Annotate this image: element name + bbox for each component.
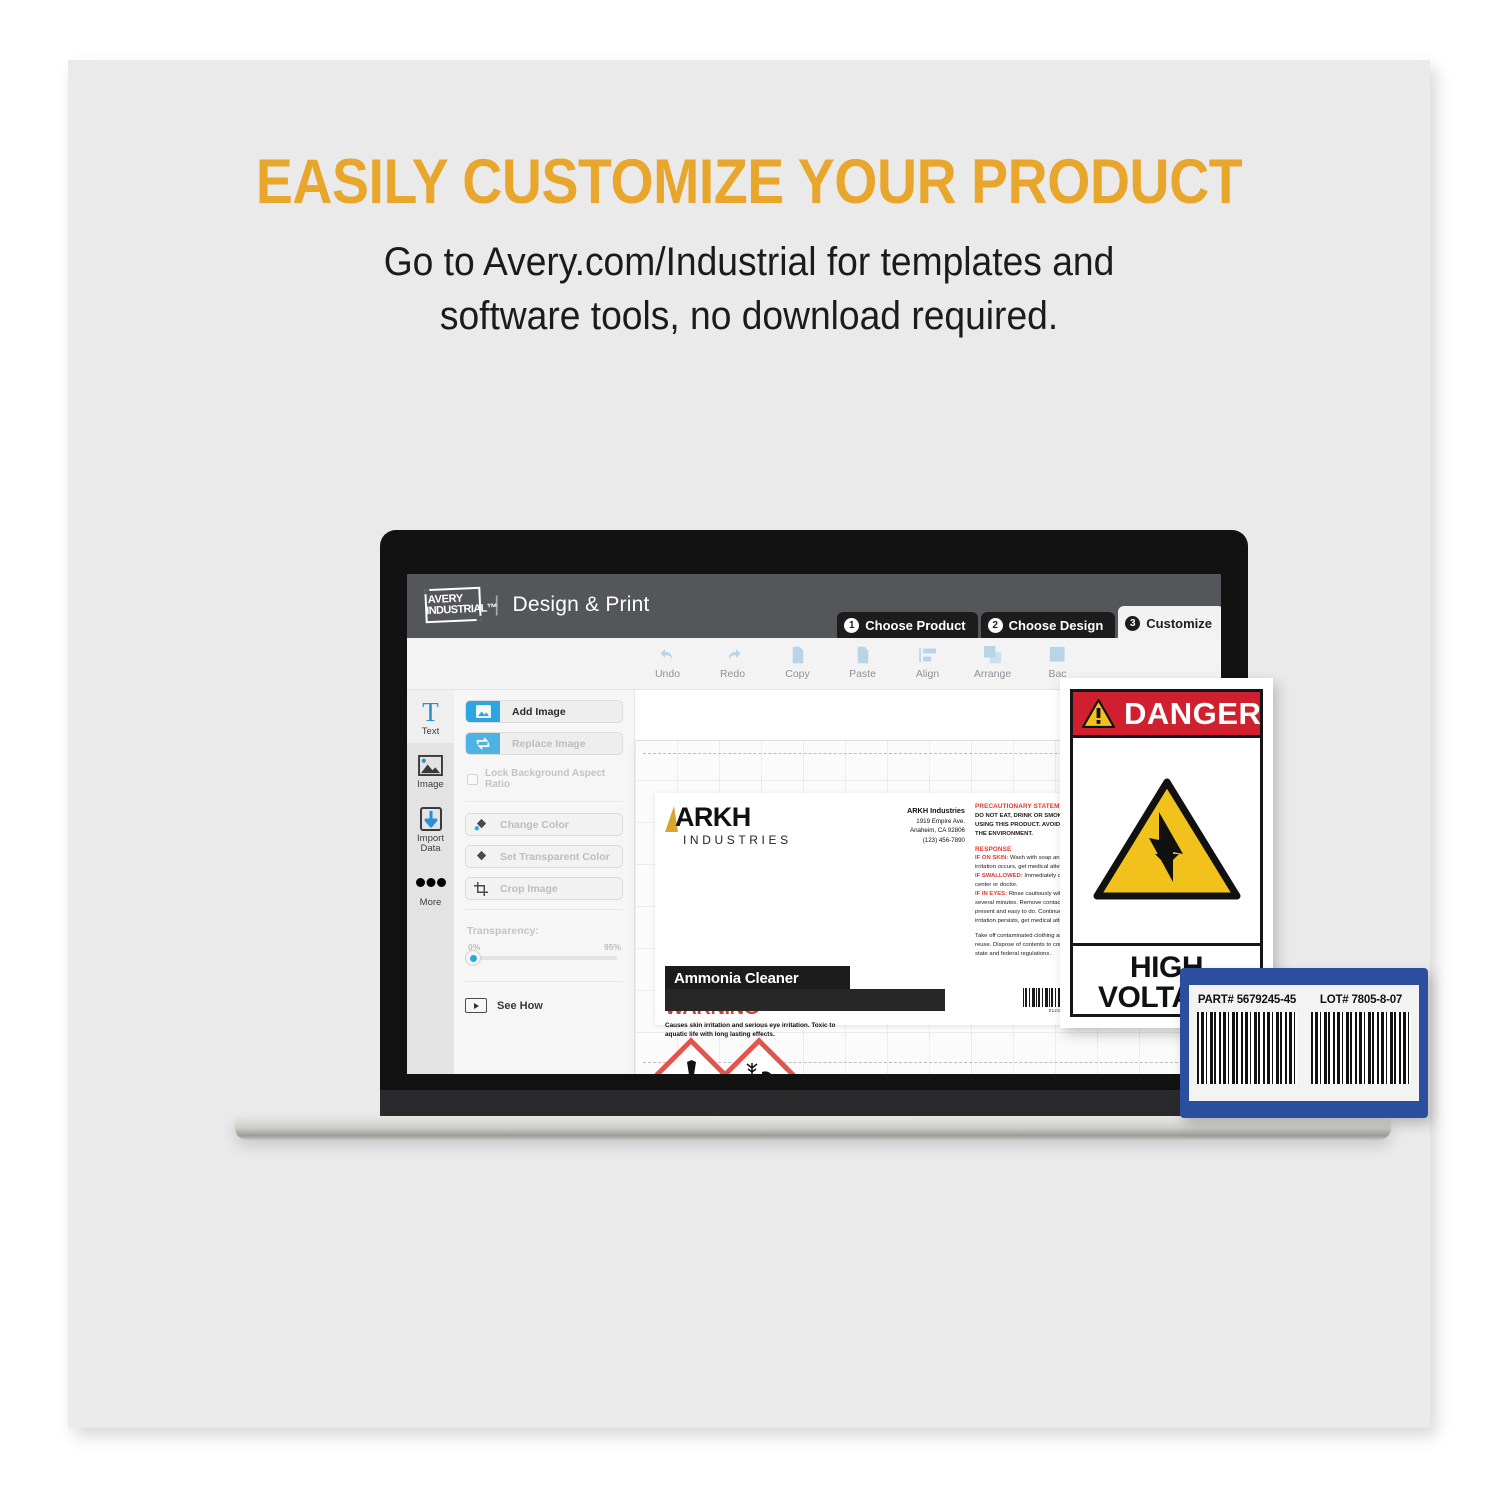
label-artwork[interactable]: ARKH INDUSTRIES ARKH Industries 1919 Emp…	[655, 793, 1115, 1025]
ghs-pictograms	[665, 1048, 1105, 1074]
background-icon	[1025, 642, 1090, 668]
properties-panel: Add Image Replace Image Lock Background …	[454, 690, 635, 1074]
lot-barcode-icon	[1311, 1012, 1411, 1084]
address-name: ARKH Industries	[907, 806, 965, 815]
crop-icon	[466, 882, 496, 896]
barcode-tag: PART# 5679245-45 LOT# 7805-8-07	[1180, 968, 1428, 1118]
rail-label: More	[407, 898, 454, 908]
response-lead: IF SWALLOWED:	[975, 873, 1023, 879]
label-header-row: ARKH INDUSTRIES ARKH Industries 1919 Emp…	[665, 802, 1105, 959]
exclamation-mark-pictogram	[665, 1048, 717, 1074]
slider-max-label: 95%	[604, 942, 621, 952]
import-data-icon	[407, 804, 454, 834]
transparency-label: Transparency:	[465, 921, 623, 945]
promo-card: EASILY CUSTOMIZE YOUR PRODUCT Go to Aver…	[68, 60, 1430, 1428]
rail-label-line2: Data	[407, 844, 454, 854]
add-image-button[interactable]: Add Image	[465, 700, 623, 723]
toolbar-label: Redo	[700, 668, 765, 680]
tab-choose-product[interactable]: 1 Choose Product	[837, 612, 977, 638]
see-how-button[interactable]: See How	[465, 998, 623, 1013]
app-header: AVERY INDUSTRIAL™ | Design & Print 1 Cho…	[407, 574, 1221, 638]
danger-signal-word: DANGER	[1124, 696, 1261, 732]
set-transparent-color-label: Set Transparent Color	[496, 851, 610, 863]
toolbar-label: Arrange	[960, 668, 1025, 680]
avery-logo-icon: AVERY INDUSTRIAL™	[425, 588, 481, 622]
toolbar-label: Copy	[765, 668, 830, 680]
address-phone: (123) 456-7890	[923, 837, 965, 844]
step-number: 2	[988, 618, 1003, 633]
slider-knob[interactable]	[465, 950, 481, 966]
toolbar-paste[interactable]: Paste	[830, 642, 895, 680]
app-title: Design & Print	[512, 593, 649, 617]
change-color-label: Change Color	[496, 819, 569, 831]
danger-header-bar: DANGER	[1073, 692, 1260, 738]
toolbar-align[interactable]: Align	[895, 642, 960, 680]
rail-item-text[interactable]: T Text	[407, 690, 454, 743]
address-city: Anaheim, CA 92806	[910, 827, 965, 834]
rail-label: Text	[407, 727, 454, 737]
rail-item-more[interactable]: More	[407, 861, 454, 914]
tab-choose-design[interactable]: 2 Choose Design	[981, 612, 1116, 638]
toolbar-label: Paste	[830, 668, 895, 680]
set-transparent-color-button[interactable]: Set Transparent Color	[465, 845, 623, 868]
laptop-hinge	[380, 1090, 1248, 1118]
transparent-color-icon	[466, 850, 496, 863]
divider	[465, 909, 623, 910]
lock-aspect-label: Lock Background Aspect Ratio	[485, 768, 623, 790]
label-address-block: ARKH Industries 1919 Empire Ave. Anaheim…	[850, 802, 965, 959]
arrange-icon	[960, 642, 1025, 668]
lock-aspect-ratio-row[interactable]: Lock Background Aspect Ratio	[465, 764, 623, 799]
rail-item-image[interactable]: Image	[407, 743, 454, 796]
replace-image-icon	[466, 733, 500, 754]
undo-icon	[635, 642, 700, 668]
laptop-base	[235, 1116, 1391, 1140]
subtitle-line-1: Go to Avery.com/Industrial for templates…	[331, 235, 1168, 289]
part-barcode-icon	[1197, 1012, 1297, 1084]
step-number: 1	[844, 618, 859, 633]
paste-icon	[830, 642, 895, 668]
label-brand-block: ARKH INDUSTRIES	[665, 802, 850, 959]
page-title: EASILY CUSTOMIZE YOUR PRODUCT	[150, 146, 1349, 218]
page-subtitle: Go to Avery.com/Industrial for templates…	[331, 235, 1168, 343]
more-dots-icon	[407, 868, 454, 898]
see-how-label: See How	[497, 1000, 543, 1012]
crop-image-button[interactable]: Crop Image	[465, 877, 623, 900]
high-voltage-symbol	[1073, 738, 1260, 946]
toolbar-copy[interactable]: Copy	[765, 642, 830, 680]
redo-icon	[700, 642, 765, 668]
toolbar-redo[interactable]: Redo	[700, 642, 765, 680]
lot-column: LOT# 7805-8-07	[1311, 994, 1411, 1093]
text-icon: T	[407, 697, 454, 727]
part-label: PART# 5679245-45	[1197, 994, 1297, 1006]
play-icon	[465, 998, 487, 1013]
transparency-slider[interactable]: 0% 95%	[465, 945, 623, 967]
toolbar-background[interactable]: Bac	[1025, 642, 1090, 680]
brand-line-2: INDUSTRIAL™	[425, 604, 481, 618]
step-number: 3	[1125, 616, 1140, 631]
tab-label: Choose Design	[1009, 618, 1104, 633]
app-logo: AVERY INDUSTRIAL™ | Design & Print	[425, 588, 650, 622]
rail-label: Image	[407, 780, 454, 790]
label-black-bar	[665, 989, 945, 1011]
tab-label: Choose Product	[865, 618, 965, 633]
arkh-company-name: ARKH	[675, 805, 751, 831]
toolbar-label: Undo	[635, 668, 700, 680]
crop-image-label: Crop Image	[496, 883, 558, 895]
lot-label: LOT# 7805-8-07	[1311, 994, 1411, 1006]
rail-item-import-data[interactable]: Import Data	[407, 797, 454, 861]
image-icon	[407, 750, 454, 780]
part-column: PART# 5679245-45	[1197, 994, 1297, 1093]
tool-rail: T Text Image	[407, 690, 454, 1074]
toolbar-arrange[interactable]: Arrange	[960, 642, 1025, 680]
response-lead: IF ON SKIN:	[975, 855, 1008, 861]
divider	[465, 981, 623, 982]
address-street: 1919 Empire Ave.	[916, 818, 965, 825]
product-name-bar: Ammonia Cleaner	[665, 966, 850, 991]
color-swatch-icon	[466, 818, 496, 831]
change-color-button[interactable]: Change Color	[465, 813, 623, 836]
barcode-tag-inner: PART# 5679245-45 LOT# 7805-8-07	[1189, 985, 1419, 1101]
replace-image-label: Replace Image	[500, 738, 586, 750]
tab-customize[interactable]: 3 Customize	[1118, 606, 1221, 638]
align-icon	[895, 642, 960, 668]
replace-image-button[interactable]: Replace Image	[465, 732, 623, 755]
arkh-company-sub: INDUSTRIES	[665, 833, 850, 847]
lock-aspect-checkbox[interactable]	[467, 774, 478, 785]
hazard-statement: Causes skin irritation and serious eye i…	[665, 1021, 845, 1040]
step-tabs: 1 Choose Product 2 Choose Design 3 Custo…	[837, 606, 1221, 638]
toolbar-undo[interactable]: Undo	[635, 642, 700, 680]
divider	[465, 801, 623, 802]
response-lead: IF IN EYES:	[975, 891, 1007, 897]
add-image-icon	[466, 701, 500, 722]
arkh-logo: ARKH	[665, 802, 850, 832]
warning-triangle-icon	[1082, 699, 1115, 728]
environment-pictogram	[733, 1048, 785, 1074]
add-image-label: Add Image	[500, 706, 566, 718]
tab-label: Customize	[1146, 616, 1212, 631]
subtitle-line-2: software tools, no download required.	[331, 289, 1168, 343]
copy-icon	[765, 642, 830, 668]
toolbar-label: Align	[895, 668, 960, 680]
slider-track[interactable]	[471, 956, 617, 960]
